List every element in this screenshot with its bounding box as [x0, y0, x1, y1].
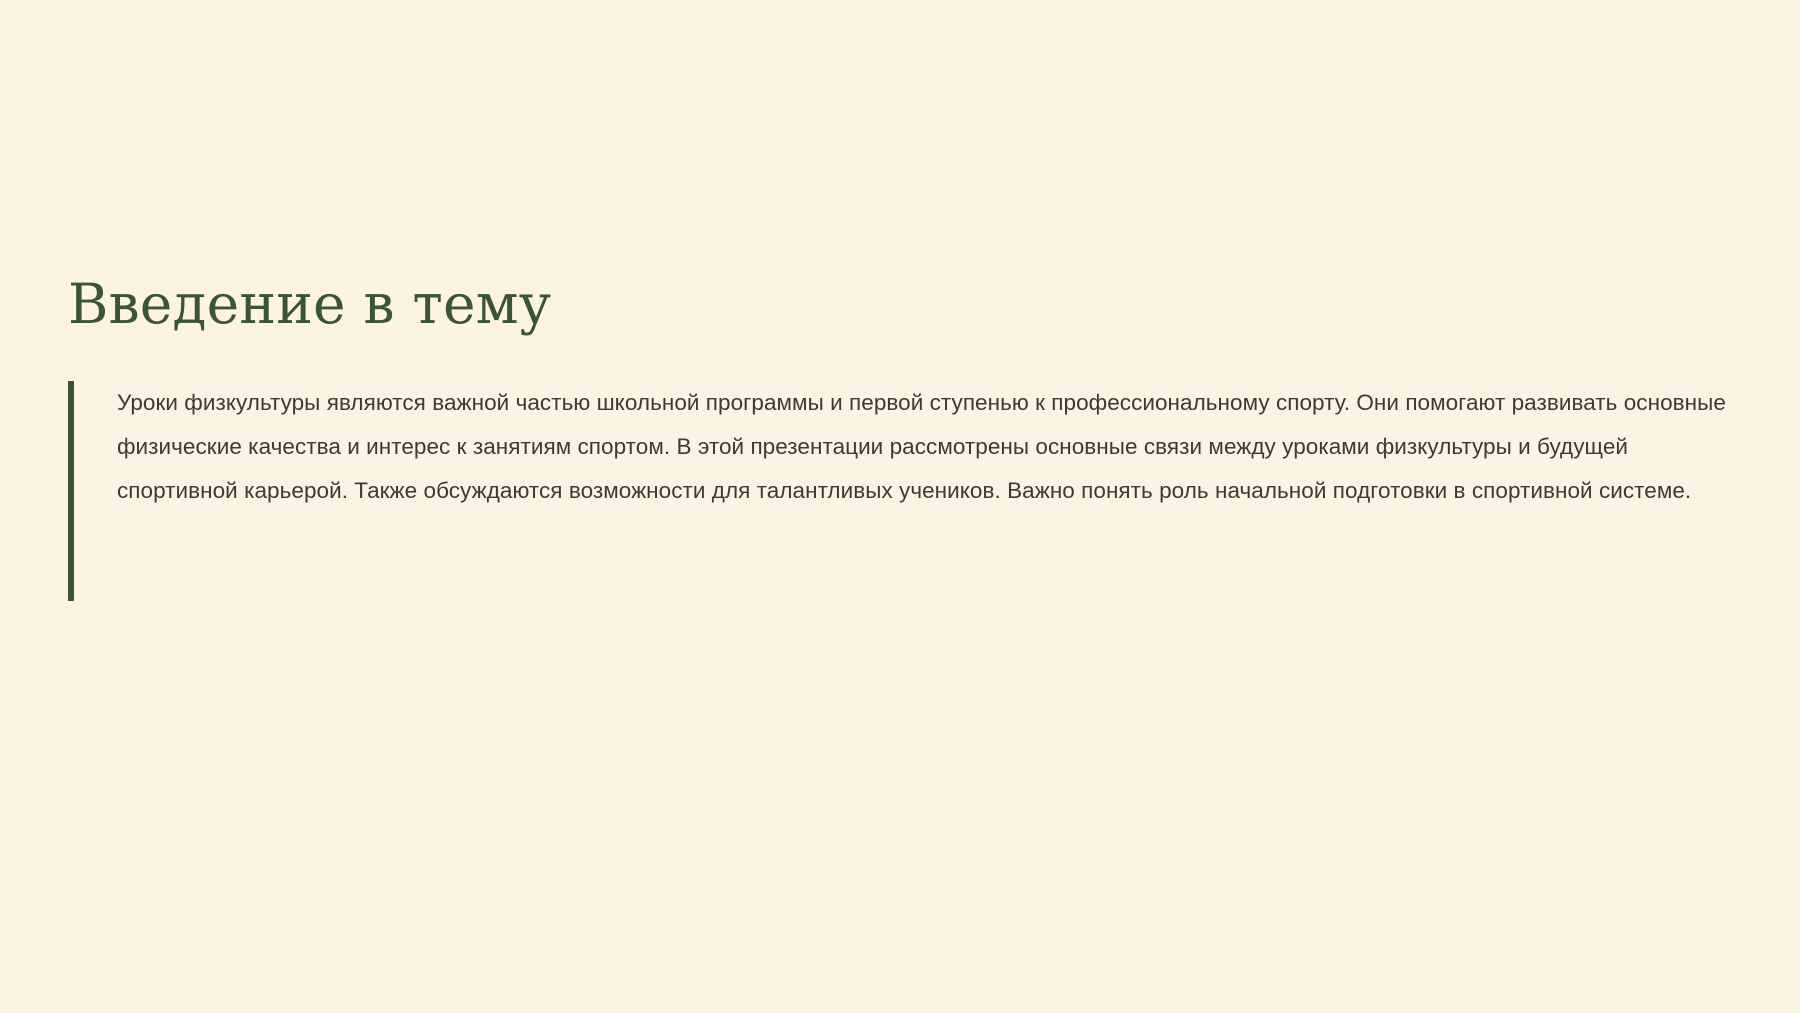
body-block: Уроки физкультуры являются важной частью…: [68, 381, 1732, 601]
body-paragraph: Уроки физкультуры являются важной частью…: [74, 381, 1732, 601]
page-title: Введение в тему: [68, 272, 1732, 337]
slide-content: Введение в тему Уроки физкультуры являют…: [68, 272, 1732, 601]
presentation-slide: Введение в тему Уроки физкультуры являют…: [0, 0, 1800, 1013]
